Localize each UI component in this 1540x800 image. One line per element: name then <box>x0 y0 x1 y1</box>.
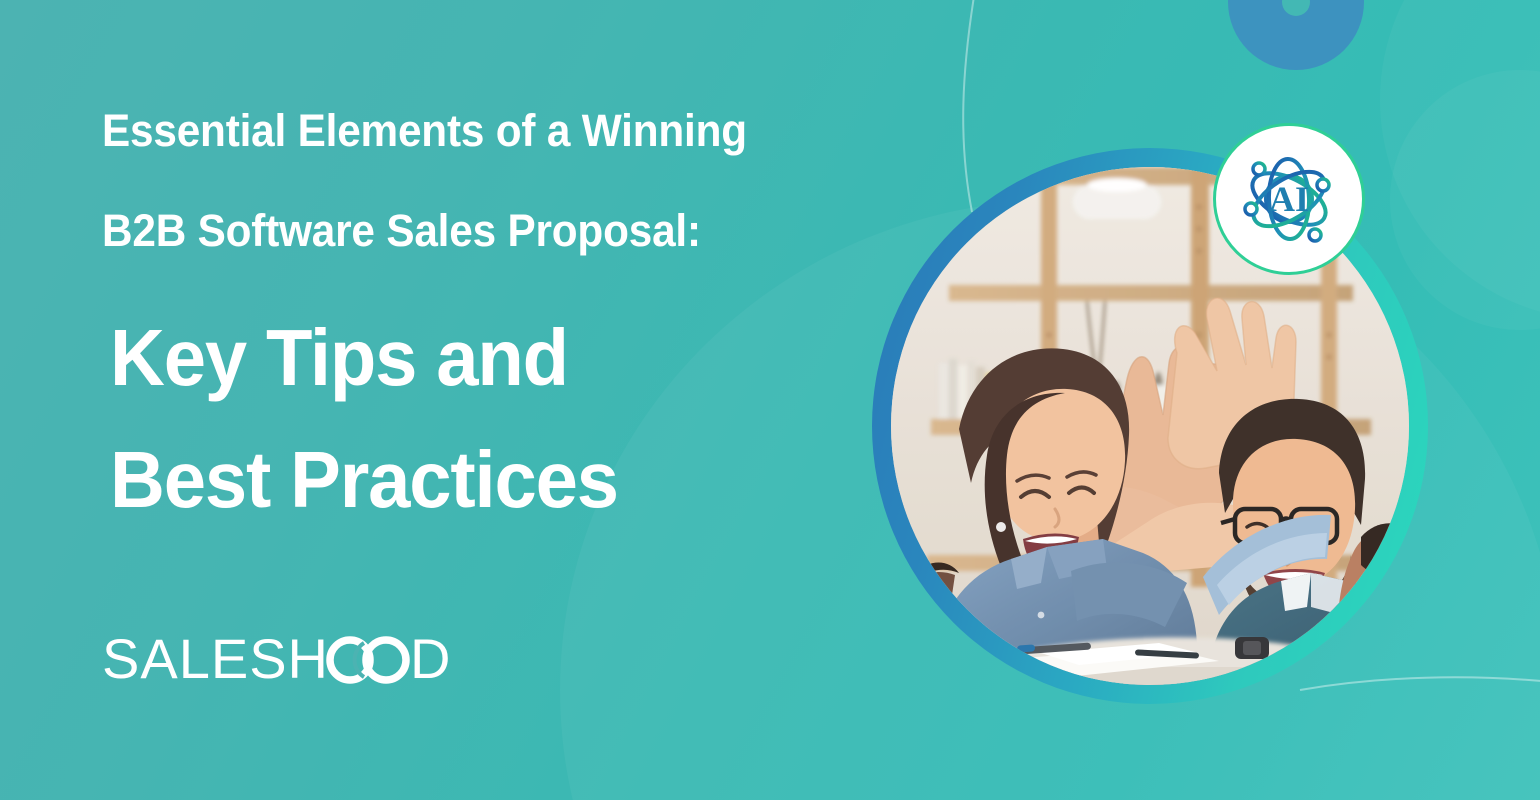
subtitle-line-2: B2B Software Sales Proposal: <box>102 208 701 253</box>
logo-text-before: SALESH <box>102 630 329 690</box>
ai-badge: AI <box>1213 123 1365 275</box>
headline-line-1: Key Tips and <box>110 318 568 398</box>
ai-badge-label: AI <box>1269 179 1309 219</box>
atom-icon: AI <box>1233 143 1345 255</box>
promo-banner: AI Essential Elements of a Winning B2B S… <box>0 0 1540 800</box>
saleshood-logo-mark: SALESH D <box>102 630 502 692</box>
blue-donut-icon <box>1228 0 1364 70</box>
headline-line-2: Best Practices <box>110 440 618 520</box>
text-content: Essential Elements of a Winning B2B Soft… <box>102 0 962 800</box>
saleshood-logo[interactable]: SALESH D <box>102 630 502 692</box>
logo-text-after: D <box>410 630 451 690</box>
subtitle-line-1: Essential Elements of a Winning <box>102 108 747 153</box>
